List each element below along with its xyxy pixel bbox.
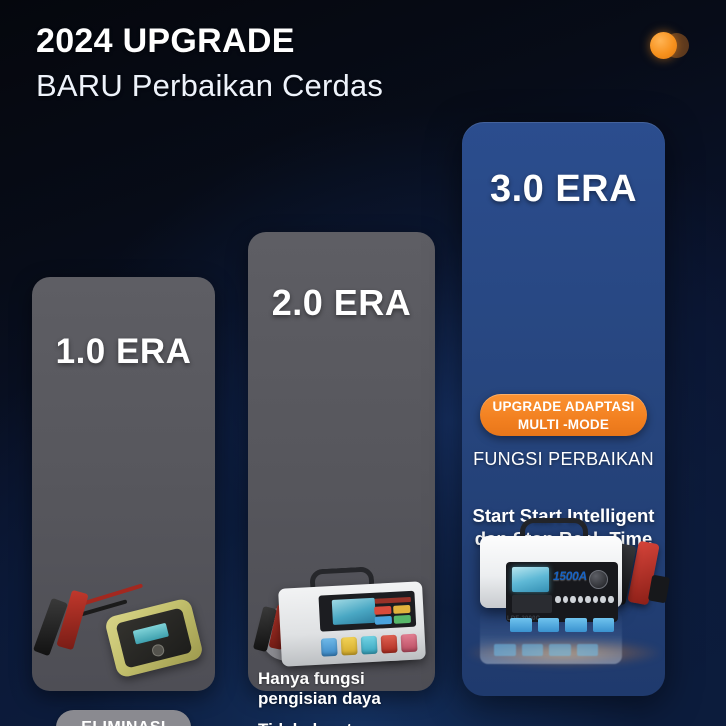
yellow-battery-charger-icon (38, 577, 210, 687)
era-3-caption: FUNGSI PERBAIKAN (462, 449, 665, 470)
charger-indicator-grid (374, 604, 413, 624)
era-3-label: 3.0 ERA (462, 168, 665, 211)
era-card-2[interactable]: 2.0 ERA 2021 Model Lama Hanya fungsi pen… (248, 232, 435, 691)
dot-highlight-icon (650, 32, 677, 59)
device-lcd-icon (512, 567, 549, 592)
era-card-1[interactable]: 1.0 ERA ELIMINASI BATERAI BIASA (32, 277, 215, 691)
era-2-label: 2.0 ERA (248, 282, 435, 324)
connector-plug-icon (648, 575, 670, 604)
charger-body (104, 597, 204, 678)
page-subtitle: BARU Perbaikan Cerdas (36, 67, 383, 104)
charger-label-strip (374, 597, 411, 604)
charger-face (115, 607, 192, 668)
era-1-badge: ELIMINASI (56, 710, 191, 726)
promo-banner: 2024 UPGRADE BARU Perbaikan Cerdas 1.0 E… (0, 0, 726, 726)
white-multi-button-charger-icon (256, 561, 432, 686)
device-body: 1500A LDF-3000C (480, 536, 622, 608)
charger-body (278, 581, 426, 666)
header: 2024 UPGRADE BARU Perbaikan Cerdas (36, 22, 383, 104)
era-card-3[interactable]: 3.0 ERA UPGRADE ADAPTASI MULTI -MODE FUN… (462, 122, 665, 696)
list-item: Tidak dapat memperbaiki baterai (258, 720, 430, 726)
charger-knob-icon (150, 644, 165, 658)
device-knob-icon (589, 570, 608, 589)
charger-panel (318, 591, 416, 632)
device-subpanel (512, 595, 552, 613)
charger-lcd-icon (133, 623, 169, 645)
device-amp-label: 1500A (553, 569, 587, 583)
charger-lcd-icon (332, 598, 375, 625)
era-3-badge: UPGRADE ADAPTASI MULTI -MODE (480, 394, 647, 436)
device-panel: 1500A (506, 562, 618, 622)
charger-button-row (321, 632, 418, 659)
page-title: 2024 UPGRADE (36, 22, 383, 61)
jump-starter-1500a-icon: 1500A LDF-3000C (458, 514, 669, 696)
device-button-row (510, 618, 614, 634)
era-1-label: 1.0 ERA (32, 332, 215, 372)
device-indicator-dots (555, 596, 613, 604)
orange-dot-icon (650, 32, 696, 60)
